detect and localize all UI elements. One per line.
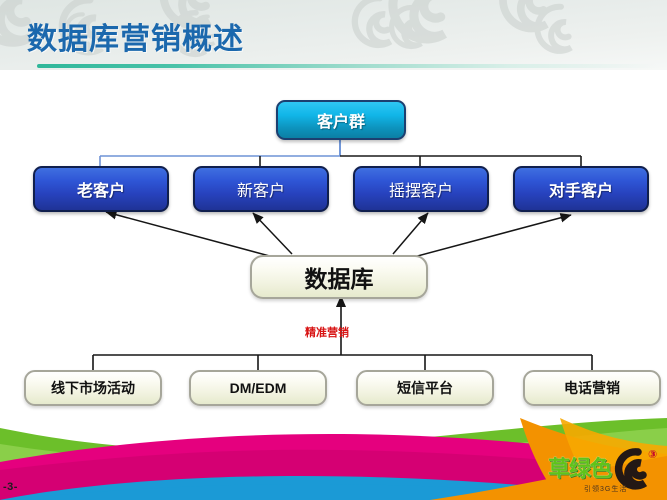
brand-logo-text: 草绿色 bbox=[548, 451, 611, 483]
node-telemarketing[interactable]: 电话营销 bbox=[523, 370, 661, 406]
title-underline bbox=[37, 64, 657, 68]
node-competitor-customers[interactable]: 对手客户 bbox=[513, 166, 649, 212]
node-existing-customers-label: 老客户 bbox=[77, 177, 125, 201]
node-database-label: 数据库 bbox=[305, 260, 374, 294]
page-number: -3- bbox=[3, 481, 18, 493]
org-diagram: 客户群 老客户 新客户 摇摆客户 对手客户 数据库 精准营销 线下市场活动 DM… bbox=[0, 70, 667, 425]
brand-logo[interactable]: 草绿色 ③ 引领3G生活 bbox=[548, 448, 663, 496]
node-sms-platform-label: 短信平台 bbox=[397, 378, 453, 398]
node-swing-customers-label: 摇摆客户 bbox=[389, 177, 453, 201]
node-telemarketing-label: 电话营销 bbox=[564, 378, 620, 398]
flow-label-precision-marketing: 精准营销 bbox=[305, 324, 349, 340]
slide-header: 数据库营销概述 bbox=[0, 0, 667, 70]
slide-canvas: 数据库营销概述 bbox=[0, 0, 667, 500]
node-new-customers[interactable]: 新客户 bbox=[193, 166, 329, 212]
logo-superscript: ③ bbox=[648, 448, 657, 461]
page-title: 数据库营销概述 bbox=[27, 14, 244, 58]
node-dm-edm-label: DM/EDM bbox=[230, 380, 287, 396]
node-swing-customers[interactable]: 摇摆客户 bbox=[353, 166, 489, 212]
node-existing-customers[interactable]: 老客户 bbox=[33, 166, 169, 212]
node-database[interactable]: 数据库 bbox=[250, 255, 428, 299]
node-new-customers-label: 新客户 bbox=[237, 177, 285, 201]
node-dm-edm[interactable]: DM/EDM bbox=[189, 370, 327, 406]
node-customer-group-label: 客户群 bbox=[317, 108, 365, 132]
node-offline-events-label: 线下市场活动 bbox=[51, 378, 135, 398]
node-offline-events[interactable]: 线下市场活动 bbox=[24, 370, 162, 406]
node-competitor-customers-label: 对手客户 bbox=[549, 177, 613, 201]
node-customer-group[interactable]: 客户群 bbox=[276, 100, 406, 140]
node-sms-platform[interactable]: 短信平台 bbox=[356, 370, 494, 406]
brand-tagline: 引领3G生活 bbox=[584, 484, 627, 494]
